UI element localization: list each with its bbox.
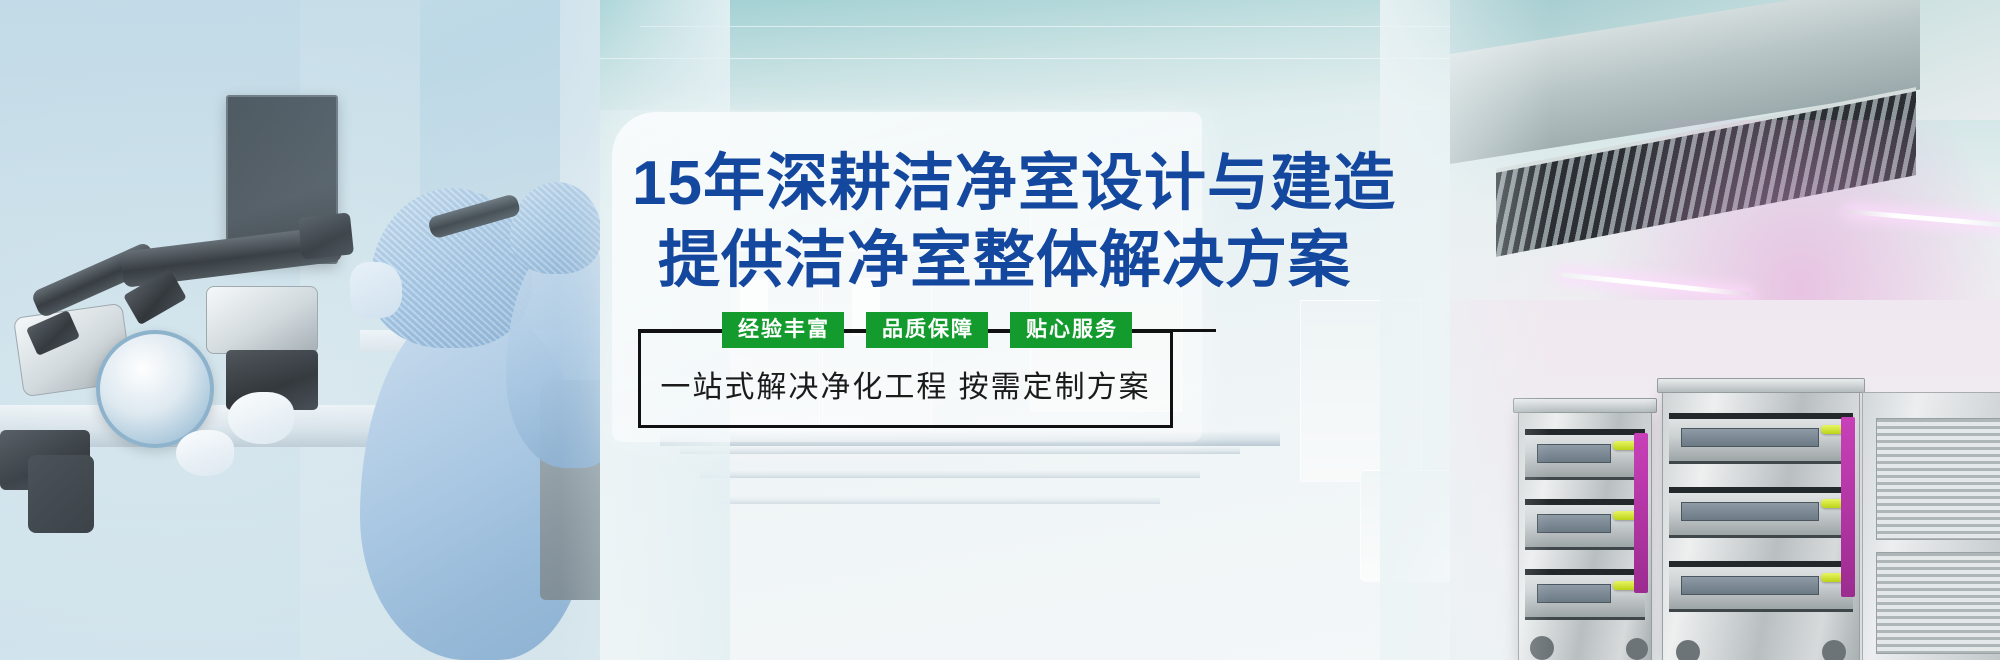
ahu-grille-upper xyxy=(1876,418,2000,540)
mid-rack-shelf-2 xyxy=(700,470,1200,478)
headline-line-2: 提供洁净室整体解决方案 xyxy=(658,225,2000,297)
promo-banner: 15年深耕洁净室设计与建造 提供洁净室整体解决方案 经验丰富 品质保障 贴心服务… xyxy=(0,0,2000,660)
mid-ceiling xyxy=(600,0,1500,110)
oven-caster-3 xyxy=(1676,640,1700,660)
badge-rule-right xyxy=(1132,329,1216,332)
ceiling-seam-1 xyxy=(640,26,1460,27)
oven2-deck-2-window xyxy=(1681,502,1819,521)
feature-subtext: 一站式解决净化工程 按需定制方案 xyxy=(638,362,1173,406)
oven2-deck-3-window xyxy=(1681,576,1819,595)
deck-oven-right-top xyxy=(1657,378,1865,393)
ceiling-seam-2 xyxy=(600,58,1500,59)
oven2-deck-2 xyxy=(1669,487,1853,538)
badge-service[interactable]: 贴心服务 xyxy=(1010,312,1132,348)
oven-caster-2 xyxy=(1626,638,1648,660)
badge-quality[interactable]: 品质保障 xyxy=(866,312,988,348)
badge-rule-mid-1 xyxy=(844,329,866,332)
right-blend-gradient xyxy=(1380,0,1550,660)
ahu-grille-lower xyxy=(1876,552,2000,654)
oven2-deck-1 xyxy=(1669,413,1853,464)
badge-rule-mid-2 xyxy=(988,329,1010,332)
deck-oven-right xyxy=(1662,386,1860,660)
oven-right-control-strip xyxy=(1841,417,1855,597)
headline-line-1: 15年深耕洁净室设计与建造 xyxy=(632,148,2000,220)
badge-rule-left xyxy=(638,329,722,332)
oven-caster-4 xyxy=(1822,640,1846,660)
mid-rack-shelf-3 xyxy=(720,496,1160,504)
oven2-deck-1-window xyxy=(1681,428,1819,447)
badge-experience[interactable]: 经验丰富 xyxy=(722,312,844,348)
oven2-deck-3 xyxy=(1669,561,1853,612)
mid-rack-shelf-1 xyxy=(680,446,1240,454)
oven-left-control-strip xyxy=(1634,433,1648,593)
feature-badge-row: 经验丰富 品质保障 贴心服务 xyxy=(638,312,1173,348)
